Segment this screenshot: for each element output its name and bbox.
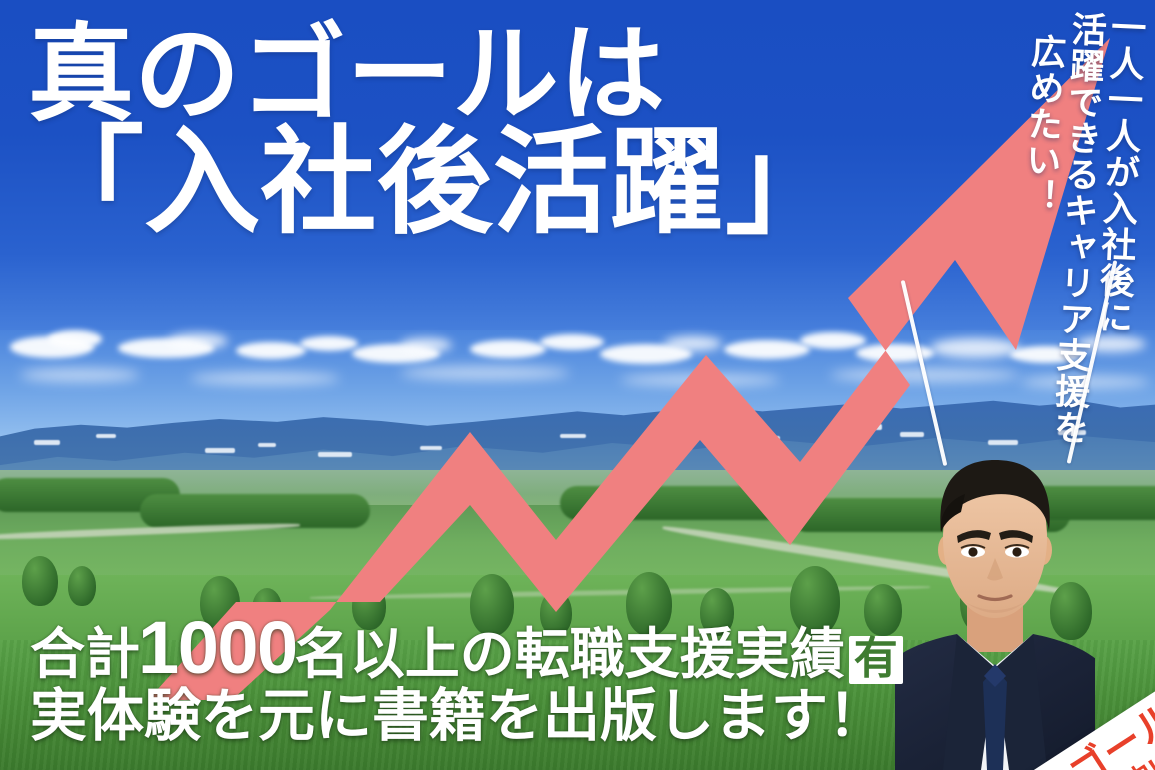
bottom-copy: 合計1000名以上の転職支援実績有 実体験を元に書籍を出版します！ [30, 618, 850, 746]
poster-canvas: 真のゴールは 「入社後活躍」 広めたい！ 活躍できるキャリア支援を 一人一人が入… [0, 0, 1155, 770]
cloud-icon [540, 334, 604, 350]
snow-patch [900, 432, 924, 437]
vertical-catch-copy: 広めたい！ 活躍できるキャリア支援を 一人一人が入社後に [1009, 1, 1145, 449]
snow-patch [560, 434, 586, 438]
snow-patch [96, 434, 116, 438]
cloud-icon [620, 374, 780, 386]
tree-icon [22, 556, 58, 606]
cloud-icon [300, 336, 358, 351]
bottom-line1-prefix: 合計 [30, 626, 140, 683]
bottom-line1-number: 1000 [138, 618, 297, 677]
headline-line-1: 真のゴールは [28, 24, 928, 128]
cloud-icon [168, 333, 228, 349]
tree-icon [68, 566, 96, 606]
cloud-icon [800, 332, 866, 349]
cloud-icon [724, 340, 810, 359]
cloud-icon [470, 340, 546, 358]
avatar [895, 452, 1095, 770]
treeline [140, 494, 370, 528]
bottom-copy-line-2: 実体験を元に書籍を出版します！ [30, 687, 850, 746]
cloud-icon [400, 366, 570, 380]
cloud-icon [48, 330, 102, 348]
snow-patch [846, 424, 882, 430]
snow-patch [318, 452, 352, 457]
cloud-icon [400, 338, 452, 352]
bottom-line1-suffix: 名以上の転職支援実績 [295, 626, 845, 683]
cloud-icon [20, 368, 140, 382]
cloud-icon [190, 372, 340, 385]
snow-patch [34, 440, 60, 445]
treeline [560, 486, 810, 520]
bottom-copy-line-1: 合計1000名以上の転職支援実績有 [30, 618, 850, 684]
page-title: 真のゴールは 「入社後活躍」 [28, 24, 928, 240]
snow-patch [258, 443, 276, 447]
snow-patch [420, 446, 442, 450]
snow-patch [205, 448, 235, 453]
status-badge: 有 [849, 636, 903, 684]
cloud-icon [930, 338, 1020, 358]
cloud-icon [236, 342, 306, 359]
headline-line-2: 「入社後活躍」 [28, 126, 928, 240]
cloud-icon [664, 336, 722, 351]
snow-patch [700, 428, 730, 433]
snow-patch [760, 436, 780, 440]
